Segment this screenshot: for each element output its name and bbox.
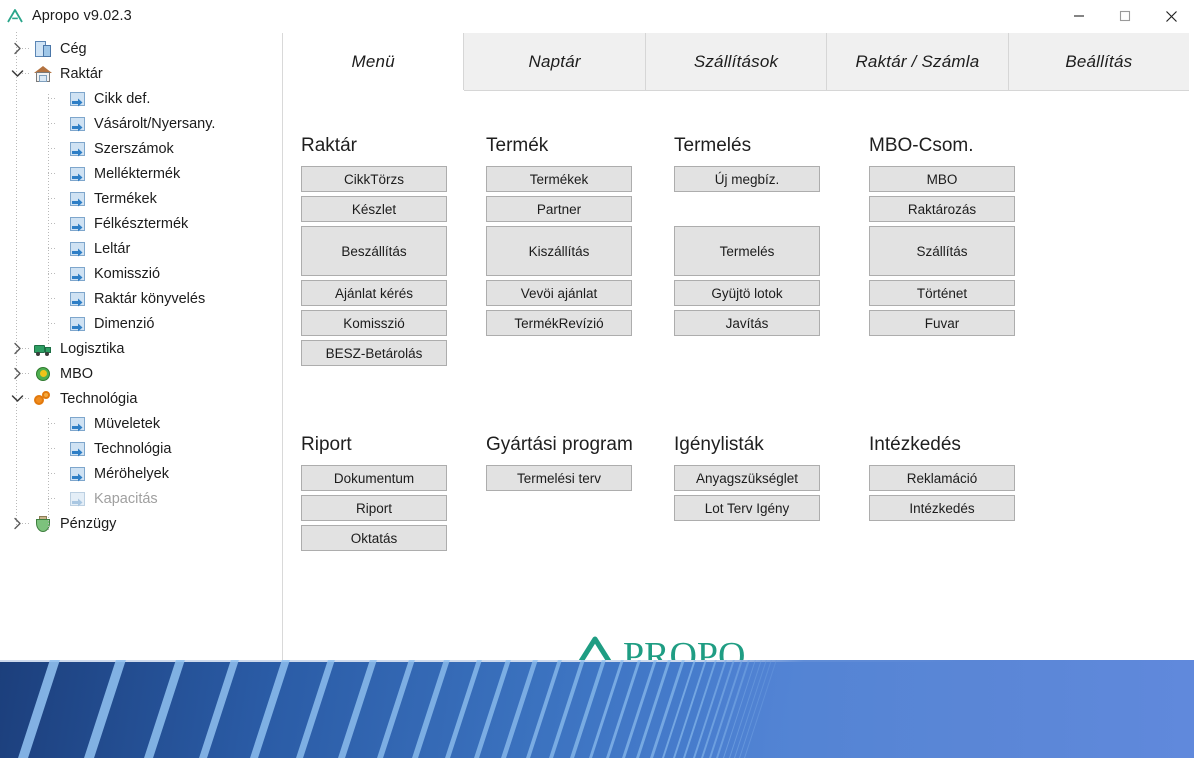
column-title: Gyártási program xyxy=(486,434,686,456)
tree-connector xyxy=(48,198,55,199)
column-title: Termék xyxy=(486,135,686,157)
sidebar-item-rakt-r-k-nyvel-s[interactable]: Raktár könyvelés xyxy=(0,286,282,311)
warehouse-icon xyxy=(33,64,55,84)
button-label: Ajánlat kérés xyxy=(335,286,413,301)
sidebar-item-label: Raktár xyxy=(60,66,103,82)
button-label: Szállítás xyxy=(916,244,967,259)
tree-connector xyxy=(22,398,29,399)
arrow-node-icon xyxy=(67,414,89,434)
sidebar-item-m-veletek[interactable]: Müveletek xyxy=(0,411,282,436)
column-int-zked-s: IntézkedésReklamációIntézkedés xyxy=(869,434,1015,525)
column-title: Igénylisták xyxy=(674,434,874,456)
tab-label: Menü xyxy=(352,52,395,72)
sidebar-item-label: Dimenzió xyxy=(94,316,154,332)
button-gy-jt-lotok[interactable]: Gyüjtö lotok xyxy=(674,280,820,306)
button-termel-si-terv[interactable]: Termelési terv xyxy=(486,465,632,491)
sidebar-item-mell-kterm-k[interactable]: Melléktermék xyxy=(0,161,282,186)
apropo-logo-icon xyxy=(0,0,30,32)
button-label: Intézkedés xyxy=(909,501,974,516)
button-label: Kiszállítás xyxy=(529,244,590,259)
sidebar-item-p-nz-gy[interactable]: Pénzügy xyxy=(0,511,282,536)
navigation-tree[interactable]: CégRaktárCikk def.Vásárolt/Nyersany.Szer… xyxy=(0,32,282,658)
tree-connector xyxy=(48,273,55,274)
button-label: Raktározás xyxy=(908,202,976,217)
sidebar-item-label: Müveletek xyxy=(94,416,160,432)
tree-connector xyxy=(22,48,29,49)
banner-stripe xyxy=(488,660,548,758)
button-term-krev-zi[interactable]: TermékRevízió xyxy=(486,310,632,336)
button-label: Komisszió xyxy=(343,316,405,331)
arrow-node-icon xyxy=(67,139,89,159)
button-label: Reklamáció xyxy=(907,471,978,486)
sidebar-item-c-g[interactable]: Cég xyxy=(0,36,282,61)
sidebar-item-label: MBO xyxy=(60,366,93,382)
sidebar-item-szersz-mok[interactable]: Szerszámok xyxy=(0,136,282,161)
banner-stripe xyxy=(282,660,344,758)
arrow-node-icon xyxy=(67,89,89,109)
decorative-banner xyxy=(0,660,1194,758)
tree-connector xyxy=(22,348,29,349)
sidebar-item-rakt-r[interactable]: Raktár xyxy=(0,61,282,86)
sidebar-item-logisztika[interactable]: Logisztika xyxy=(0,336,282,361)
button-vev-i-aj-nlat[interactable]: Vevöi ajánlat xyxy=(486,280,632,306)
sidebar-item-label: Technológia xyxy=(60,391,137,407)
sidebar-item-label: Logisztika xyxy=(60,341,124,357)
tab-sz-ll-t-sok[interactable]: Szállítások xyxy=(646,33,827,90)
banner-stripe xyxy=(325,660,387,758)
tree-guide-child-1 xyxy=(48,418,49,530)
column-riport: RiportDokumentumRiportOktatás xyxy=(301,434,447,555)
tree-connector xyxy=(48,448,55,449)
arrow-node-icon xyxy=(67,489,89,509)
arrow-node-icon xyxy=(67,439,89,459)
tree-connector xyxy=(48,423,55,424)
banner-stripe xyxy=(70,660,135,758)
button-partner[interactable]: Partner xyxy=(486,196,632,222)
button-riport[interactable]: Riport xyxy=(301,495,447,521)
button-dokumentum[interactable]: Dokumentum xyxy=(301,465,447,491)
button-label: Történet xyxy=(917,286,967,301)
button-term-kek[interactable]: Termékek xyxy=(486,166,632,192)
button-reklam-ci[interactable]: Reklamáció xyxy=(869,465,1015,491)
maximize-button[interactable] xyxy=(1102,0,1148,32)
tree-guide-child-0 xyxy=(48,94,49,346)
sidebar-item-technol-gia[interactable]: Technológia xyxy=(0,386,282,411)
tree-connector xyxy=(48,223,55,224)
menu-content: RaktárCikkTörzsKészletBeszállításAjánlat… xyxy=(283,91,1189,660)
building-icon xyxy=(33,39,55,59)
tree-connector xyxy=(48,473,55,474)
tree-connector xyxy=(22,523,29,524)
arrow-node-icon xyxy=(67,214,89,234)
button-label: Oktatás xyxy=(351,531,398,546)
button-label: Lot Terv Igény xyxy=(705,501,790,516)
column-term-k: TermékTermékekPartnerKiszállításVevöi aj… xyxy=(486,135,632,340)
button-label: Készlet xyxy=(352,202,396,217)
sidebar-item-label: Kapacitás xyxy=(94,491,158,507)
tree-connector xyxy=(48,98,55,99)
button-label: Riport xyxy=(356,501,392,516)
tab-napt-r[interactable]: Naptár xyxy=(464,33,645,90)
sidebar-item-label: Vásárolt/Nyersany. xyxy=(94,116,215,132)
banner-stripe xyxy=(461,660,521,758)
banner-stripe xyxy=(363,660,424,758)
tree-connector xyxy=(48,173,55,174)
sidebar-item-term-kek[interactable]: Termékek xyxy=(0,186,282,211)
button-label: Termelés xyxy=(720,244,775,259)
arrow-node-icon xyxy=(67,114,89,134)
sidebar-item-label: Termékek xyxy=(94,191,157,207)
button-label: BESZ-Betárolás xyxy=(326,346,423,361)
sidebar-item-label: Pénzügy xyxy=(60,516,116,532)
tree-connector xyxy=(48,498,55,499)
button-label: Partner xyxy=(537,202,581,217)
arrow-node-icon xyxy=(67,289,89,309)
tab-strip[interactable]: MenüNaptárSzállításokRaktár / SzámlaBeál… xyxy=(283,33,1189,90)
sidebar-item-f-lk-szterm-k[interactable]: Félkésztermék xyxy=(0,211,282,236)
tab-label: Szállítások xyxy=(694,52,778,72)
button-j-megb-z[interactable]: Új megbíz. xyxy=(674,166,820,192)
button-label: Anyagszükséglet xyxy=(696,471,798,486)
button-label: TermékRevízió xyxy=(514,316,603,331)
money-bag-icon xyxy=(33,514,55,534)
button-label: CikkTörzs xyxy=(344,172,404,187)
tab-be-ll-t-s[interactable]: Beállítás xyxy=(1009,33,1189,90)
button-label: Vevöi ajánlat xyxy=(521,286,598,301)
button-lot-terv-ig-ny[interactable]: Lot Terv Igény xyxy=(674,495,820,521)
tree-connector xyxy=(22,73,29,74)
button-komisszi[interactable]: Komisszió xyxy=(301,310,447,336)
sidebar-item-label: Félkésztermék xyxy=(94,216,188,232)
sidebar-item-technol-gia[interactable]: Technológia xyxy=(0,436,282,461)
truck-icon xyxy=(33,339,55,359)
column-mbo-csom: MBO-Csom.MBORaktározásSzállításTörténetF… xyxy=(869,135,1015,340)
circle-target-icon xyxy=(33,364,55,384)
button-sz-ll-t-s[interactable]: Szállítás xyxy=(869,226,1015,276)
button-label: Fuvar xyxy=(925,316,960,331)
button-cikkt-rzs[interactable]: CikkTörzs xyxy=(301,166,447,192)
button-anyagsz-ks-glet[interactable]: Anyagszükséglet xyxy=(674,465,820,491)
sidebar-item-label: Technológia xyxy=(94,441,171,457)
window-title: Apropo v9.02.3 xyxy=(32,8,132,24)
sidebar-item-v-s-rolt-nyersany[interactable]: Vásárolt/Nyersany. xyxy=(0,111,282,136)
button-jav-t-s[interactable]: Javítás xyxy=(674,310,820,336)
button-k-szlet[interactable]: Készlet xyxy=(301,196,447,222)
tab-rakt-r-sz-mla[interactable]: Raktár / Számla xyxy=(827,33,1008,90)
minimize-button[interactable] xyxy=(1056,0,1102,32)
sidebar-item-label: Leltár xyxy=(94,241,130,257)
tab-label: Naptár xyxy=(528,52,580,72)
sidebar-item-m-r-helyek[interactable]: Méröhelyek xyxy=(0,461,282,486)
button-label: Termelési terv xyxy=(517,471,601,486)
close-button[interactable] xyxy=(1148,0,1194,32)
sidebar-item-mbo[interactable]: MBO xyxy=(0,361,282,386)
column-termel-s: TermelésÚj megbíz.TermelésGyüjtö lotokJa… xyxy=(674,135,820,340)
tree-connector xyxy=(48,148,55,149)
button-t-rt-net[interactable]: Történet xyxy=(869,280,1015,306)
arrow-node-icon xyxy=(67,164,89,184)
tab-label: Beállítás xyxy=(1065,52,1132,72)
sidebar-item-label: Melléktermék xyxy=(94,166,180,182)
tree-connector xyxy=(48,123,55,124)
sidebar-item-label: Cég xyxy=(60,41,87,57)
title-bar: Apropo v9.02.3 xyxy=(0,0,1194,32)
sidebar-item-label: Szerszámok xyxy=(94,141,174,157)
sidebar-item-cikk-def[interactable]: Cikk def. xyxy=(0,86,282,111)
button-kisz-ll-t-s[interactable]: Kiszállítás xyxy=(486,226,632,276)
tab-men[interactable]: Menü xyxy=(283,33,464,90)
button-label: Dokumentum xyxy=(334,471,414,486)
banner-right-fade xyxy=(694,660,1194,758)
button-oktat-s[interactable]: Oktatás xyxy=(301,525,447,551)
arrow-node-icon xyxy=(67,239,89,259)
main-panel: MenüNaptárSzállításokRaktár / SzámlaBeál… xyxy=(282,33,1188,660)
sidebar-item-lelt-r[interactable]: Leltár xyxy=(0,236,282,261)
column-title: MBO-Csom. xyxy=(869,135,1069,157)
column-gy-rt-si-program: Gyártási programTermelési terv xyxy=(486,434,632,495)
tree-connector xyxy=(48,323,55,324)
button-besz-bet-rol-s[interactable]: BESZ-Betárolás xyxy=(301,340,447,366)
button-label: Termékek xyxy=(530,172,589,187)
window-controls xyxy=(1056,0,1194,32)
sidebar-item-label: Komisszió xyxy=(94,266,160,282)
column-title: Intézkedés xyxy=(869,434,1069,456)
button-label: Gyüjtö lotok xyxy=(711,286,782,301)
button-label: MBO xyxy=(927,172,958,187)
tree-connector xyxy=(22,373,29,374)
sidebar-item-label: Méröhelyek xyxy=(94,466,169,482)
arrow-node-icon xyxy=(67,189,89,209)
banner-stripe xyxy=(131,660,195,758)
button-label: Új megbíz. xyxy=(715,172,780,187)
arrow-node-icon xyxy=(67,264,89,284)
button-label: Beszállítás xyxy=(341,244,406,259)
column-rakt-r: RaktárCikkTörzsKészletBeszállításAjánlat… xyxy=(301,135,447,370)
sidebar-item-komisszi[interactable]: Komisszió xyxy=(0,261,282,286)
arrow-node-icon xyxy=(67,314,89,334)
sidebar-item-label: Cikk def. xyxy=(94,91,150,107)
button-rakt-roz-s[interactable]: Raktározás xyxy=(869,196,1015,222)
sidebar-item-label: Raktár könyvelés xyxy=(94,291,205,307)
banner-stripe xyxy=(4,660,69,758)
arrow-node-icon xyxy=(67,464,89,484)
column-title: Raktár xyxy=(301,135,501,157)
banner-stripe xyxy=(236,660,299,758)
button-label: Javítás xyxy=(726,316,769,331)
sidebar-item-dimenzi[interactable]: Dimenzió xyxy=(0,311,282,336)
column-title: Riport xyxy=(301,434,501,456)
button-besz-ll-t-s[interactable]: Beszállítás xyxy=(301,226,447,276)
banner-stripe xyxy=(186,660,249,758)
sidebar-item-kapacit-s[interactable]: Kapacitás xyxy=(0,486,282,511)
button-aj-nlat-k-r-s[interactable]: Ajánlat kérés xyxy=(301,280,447,306)
column-title: Termelés xyxy=(674,135,874,157)
button-int-zked-s[interactable]: Intézkedés xyxy=(869,495,1015,521)
tree-connector xyxy=(48,298,55,299)
tree-connector xyxy=(48,248,55,249)
gears-icon xyxy=(33,389,55,409)
button-termel-s[interactable]: Termelés xyxy=(674,226,820,276)
button-mbo[interactable]: MBO xyxy=(869,166,1015,192)
tab-label: Raktár / Számla xyxy=(855,52,979,72)
column-ig-nylist-k: IgénylistákAnyagszükségletLot Terv Igény xyxy=(674,434,820,525)
button-fuvar[interactable]: Fuvar xyxy=(869,310,1015,336)
